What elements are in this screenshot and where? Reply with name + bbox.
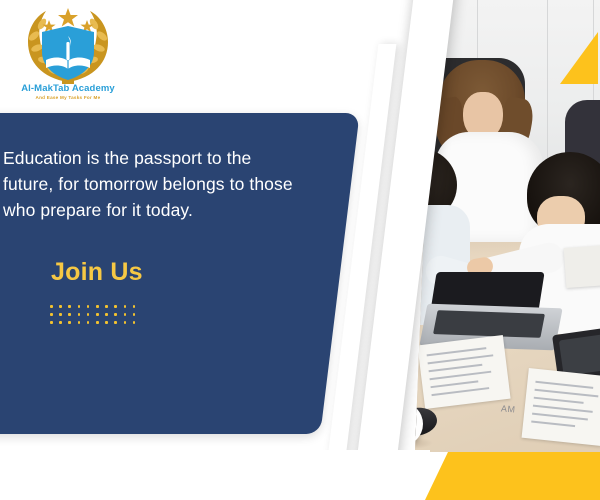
- grid-dot: [68, 313, 71, 316]
- poster-canvas: AM Education is the passport to the futu…: [0, 0, 600, 500]
- grid-dot: [87, 305, 90, 308]
- grid-dot: [50, 321, 53, 324]
- grid-dot: [78, 321, 81, 324]
- grid-dot: [133, 313, 136, 316]
- grid-dot: [124, 313, 127, 316]
- photo-watermark: AM: [501, 403, 516, 414]
- join-us-cta[interactable]: Join Us: [51, 258, 143, 287]
- grid-dot: [96, 321, 99, 324]
- second-laptop-screen: [559, 332, 600, 376]
- grid-dot: [78, 305, 81, 308]
- grid-dot: [105, 305, 108, 308]
- grid-dot: [133, 321, 136, 324]
- grid-dot: [133, 305, 136, 308]
- quote-text: Education is the passport to the future,…: [3, 145, 303, 223]
- grid-dot: [114, 321, 117, 324]
- grid-dot: [78, 313, 81, 316]
- grid-dot: [59, 321, 62, 324]
- paper-sheet: [417, 335, 510, 409]
- grid-dot: [68, 321, 71, 324]
- quote-panel-content: Education is the passport to the future,…: [0, 113, 330, 434]
- grid-dot: [124, 321, 127, 324]
- paper-sheet: [564, 244, 600, 288]
- grid-dot: [50, 313, 53, 316]
- academy-crest-icon: [18, 6, 118, 86]
- grid-dot: [124, 305, 127, 308]
- grid-dot: [59, 313, 62, 316]
- grid-dot: [87, 321, 90, 324]
- grid-dot: [87, 313, 90, 316]
- laptop-keyboard: [433, 310, 545, 338]
- grid-dot: [114, 313, 117, 316]
- grid-dot: [114, 305, 117, 308]
- brand-tagline: And Ease My Tasks For Me: [18, 95, 118, 100]
- dot-grid-decoration: [50, 305, 142, 329]
- bottom-white-area: [0, 450, 430, 500]
- grid-dot: [105, 313, 108, 316]
- grid-dot: [68, 305, 71, 308]
- top-right-triangle-accent: [560, 32, 598, 84]
- grid-dot: [59, 305, 62, 308]
- brand-logo[interactable]: Al-MakTab Academy And Ease My Tasks For …: [18, 6, 118, 110]
- paper-sheet: [522, 368, 600, 446]
- grid-dot: [96, 313, 99, 316]
- bottom-right-parallelogram-accent: [425, 452, 600, 500]
- grid-dot: [96, 305, 99, 308]
- grid-dot: [105, 321, 108, 324]
- grid-dot: [50, 305, 53, 308]
